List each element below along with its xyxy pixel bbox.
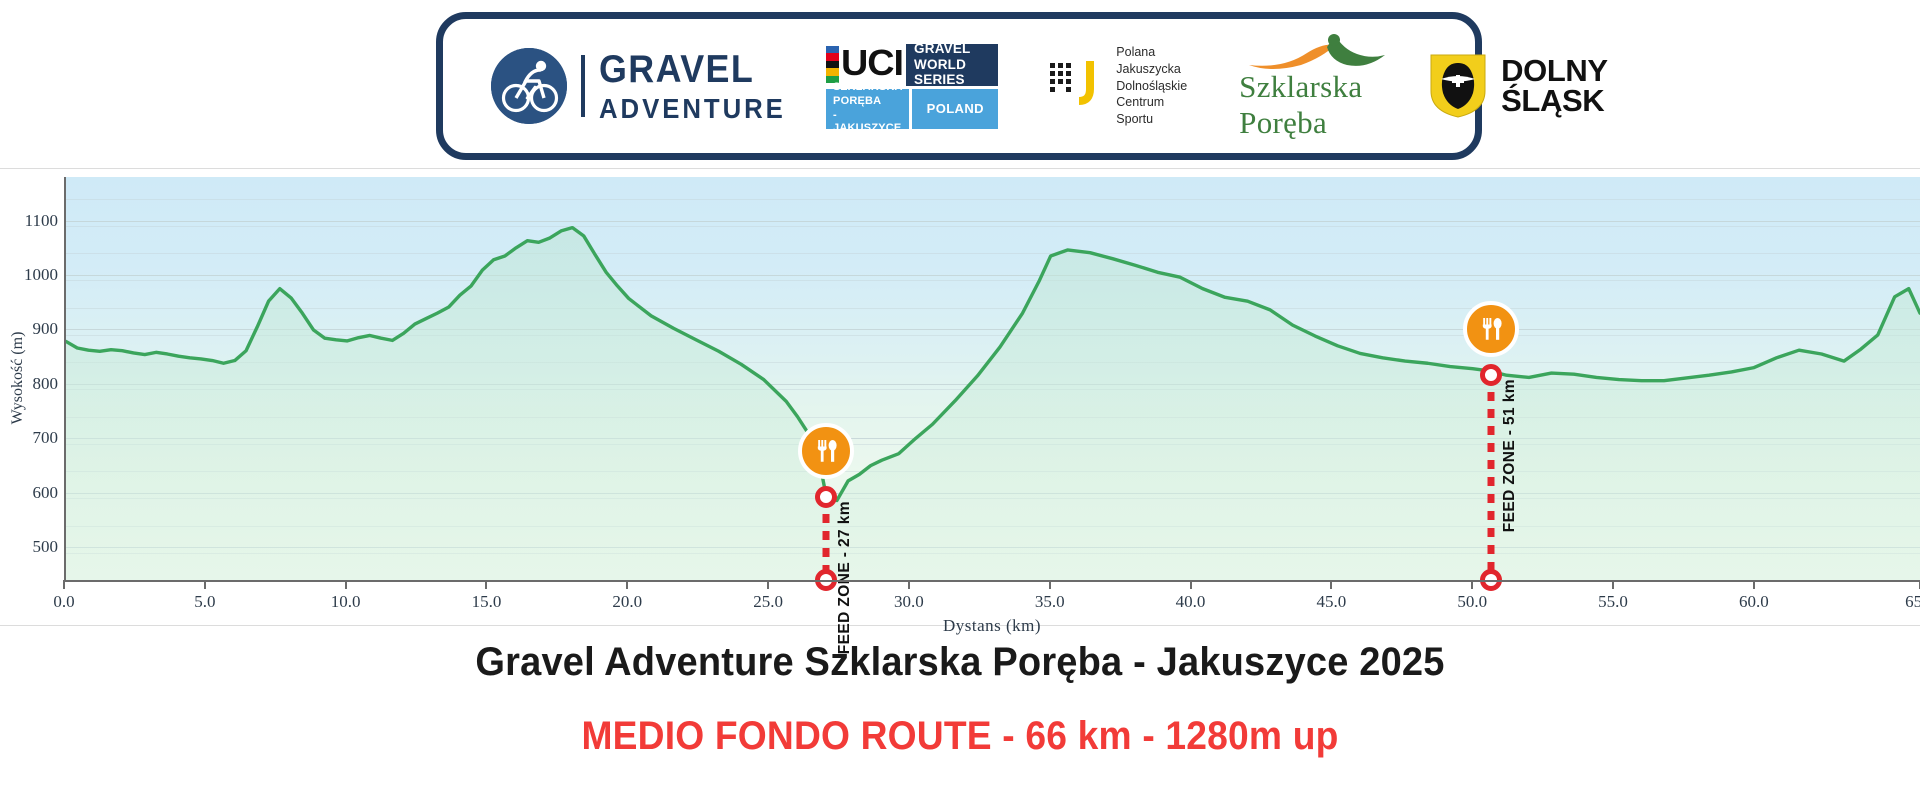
szklarska-swoosh-figure-icon <box>1239 31 1389 71</box>
x-tick-label: 20.0 <box>612 592 642 612</box>
x-tick-label: 55.0 <box>1598 592 1628 612</box>
x-tick-label: 0.0 <box>53 592 74 612</box>
uci-country-label: POLAND <box>927 101 984 116</box>
feed-zone-dotted-line <box>1488 375 1495 580</box>
x-tick-label: 15.0 <box>472 592 502 612</box>
x-tick <box>626 580 628 589</box>
uci-acronym: UCI <box>841 44 903 86</box>
x-tick-label: 60.0 <box>1739 592 1769 612</box>
polana-line1: Polana Jakuszycka <box>1116 44 1187 78</box>
dolny-slask-wordmark: DOLNY ŚLĄSK <box>1501 56 1608 117</box>
logo-divider <box>581 55 585 117</box>
feed-zone-label: FEED ZONE - 51 km <box>1501 379 1519 532</box>
uci-series-line1: GRAVEL <box>914 41 990 57</box>
gravel-adventure-line1: GRAVEL <box>599 50 786 89</box>
x-tick <box>63 580 65 589</box>
uci-city-line2: - JAKUSZYCE <box>833 109 902 137</box>
x-tick-label: 35.0 <box>1035 592 1065 612</box>
x-tick <box>485 580 487 589</box>
logo-dolny-slask: DOLNY ŚLĄSK <box>1429 53 1608 119</box>
x-tick-label: 30.0 <box>894 592 924 612</box>
x-tick <box>1190 580 1192 589</box>
lower-silesia-coat-of-arms-icon <box>1429 53 1487 119</box>
uci-rainbow-bars-icon <box>826 46 839 84</box>
polana-jakuszycka-wordmark: Polana Jakuszycka Dolnośląskie Centrum S… <box>1116 44 1187 128</box>
y-tick-label: 1100 <box>25 211 58 231</box>
cutlery-icon[interactable] <box>798 423 854 479</box>
x-tick-label: 25.0 <box>753 592 783 612</box>
y-tick-label: 700 <box>33 428 59 448</box>
x-tick <box>1753 580 1755 589</box>
elevation-profile-chart: Wysokość (m) 50060070080090010001100 FEE… <box>0 168 1920 626</box>
polana-j-maze-icon <box>1046 57 1104 115</box>
y-axis-title: Wysokość (m) <box>9 332 27 425</box>
x-axis-title: Dystans (km) <box>64 616 1920 636</box>
cyclist-in-circle-icon <box>491 48 567 124</box>
x-tick <box>908 580 910 589</box>
logo-szklarska-poreba: Szklarska Poręba <box>1239 31 1389 141</box>
x-tick <box>1049 580 1051 589</box>
feed-zone-dotted-line <box>823 497 830 580</box>
logo-gravel-adventure: GRAVEL ADVENTURE <box>491 48 802 124</box>
y-tick-label: 500 <box>33 537 59 557</box>
x-tick <box>1471 580 1473 589</box>
elevation-profile-line <box>66 177 1920 580</box>
uci-country-block: POLAND <box>912 89 998 129</box>
logo-uci-gravel-world-series: UCI GRAVEL WORLD SERIES SZKLARSKA PORĘBA… <box>826 44 998 129</box>
route-subtitle: MEDIO FONDO ROUTE - 66 km - 1280m up <box>67 714 1853 759</box>
uci-bottom-row: SZKLARSKA PORĘBA - JAKUSZYCE POLAND <box>826 89 998 129</box>
chart-inner: Wysokość (m) 50060070080090010001100 FEE… <box>12 169 1920 625</box>
x-tick <box>1612 580 1614 589</box>
x-tick-label: 10.0 <box>331 592 361 612</box>
x-tick-label: 50.0 <box>1457 592 1487 612</box>
x-tick <box>1330 580 1332 589</box>
y-tick-label: 800 <box>33 374 59 394</box>
polana-line2: Dolnośląskie Centrum Sportu <box>1116 78 1187 129</box>
sponsor-logo-bar: GRAVEL ADVENTURE UCI GRAVEL WORLD SERIES… <box>436 12 1482 160</box>
route-title: Gravel Adventure Szklarska Poręba - Jaku… <box>48 640 1872 685</box>
x-tick-label: 65.9 <box>1905 592 1920 612</box>
x-tick-label: 5.0 <box>194 592 215 612</box>
feed-zone-endpoint-dot <box>815 486 837 508</box>
x-tick <box>767 580 769 589</box>
dolny-slask-line2: ŚLĄSK <box>1501 86 1608 116</box>
logo-polana-jakuszycka: Polana Jakuszycka Dolnośląskie Centrum S… <box>1046 44 1187 128</box>
y-tick-label: 900 <box>33 319 59 339</box>
x-tick-label: 40.0 <box>1176 592 1206 612</box>
feed-zone-endpoint-dot <box>1480 364 1502 386</box>
y-tick-label: 1000 <box>24 265 58 285</box>
gravel-adventure-wordmark: GRAVEL ADVENTURE <box>599 50 802 123</box>
x-tick <box>204 580 206 589</box>
x-tick <box>345 580 347 589</box>
y-tick-label: 600 <box>33 483 59 503</box>
dolny-slask-line1: DOLNY <box>1501 56 1608 86</box>
szklarska-poreba-name: Szklarska Poręba <box>1239 69 1389 141</box>
plot-area: 50060070080090010001100 FEED ZONE - 27 k… <box>64 177 1920 580</box>
uci-top-row: UCI GRAVEL WORLD SERIES <box>826 44 998 86</box>
gravel-adventure-line2: ADVENTURE <box>599 95 786 123</box>
cutlery-icon[interactable] <box>1463 301 1519 357</box>
uci-series-block: GRAVEL WORLD SERIES <box>906 44 998 86</box>
uci-series-line2: WORLD SERIES <box>914 57 990 88</box>
x-tick-label: 45.0 <box>1316 592 1346 612</box>
uci-city-block: SZKLARSKA PORĘBA - JAKUSZYCE <box>826 89 909 129</box>
